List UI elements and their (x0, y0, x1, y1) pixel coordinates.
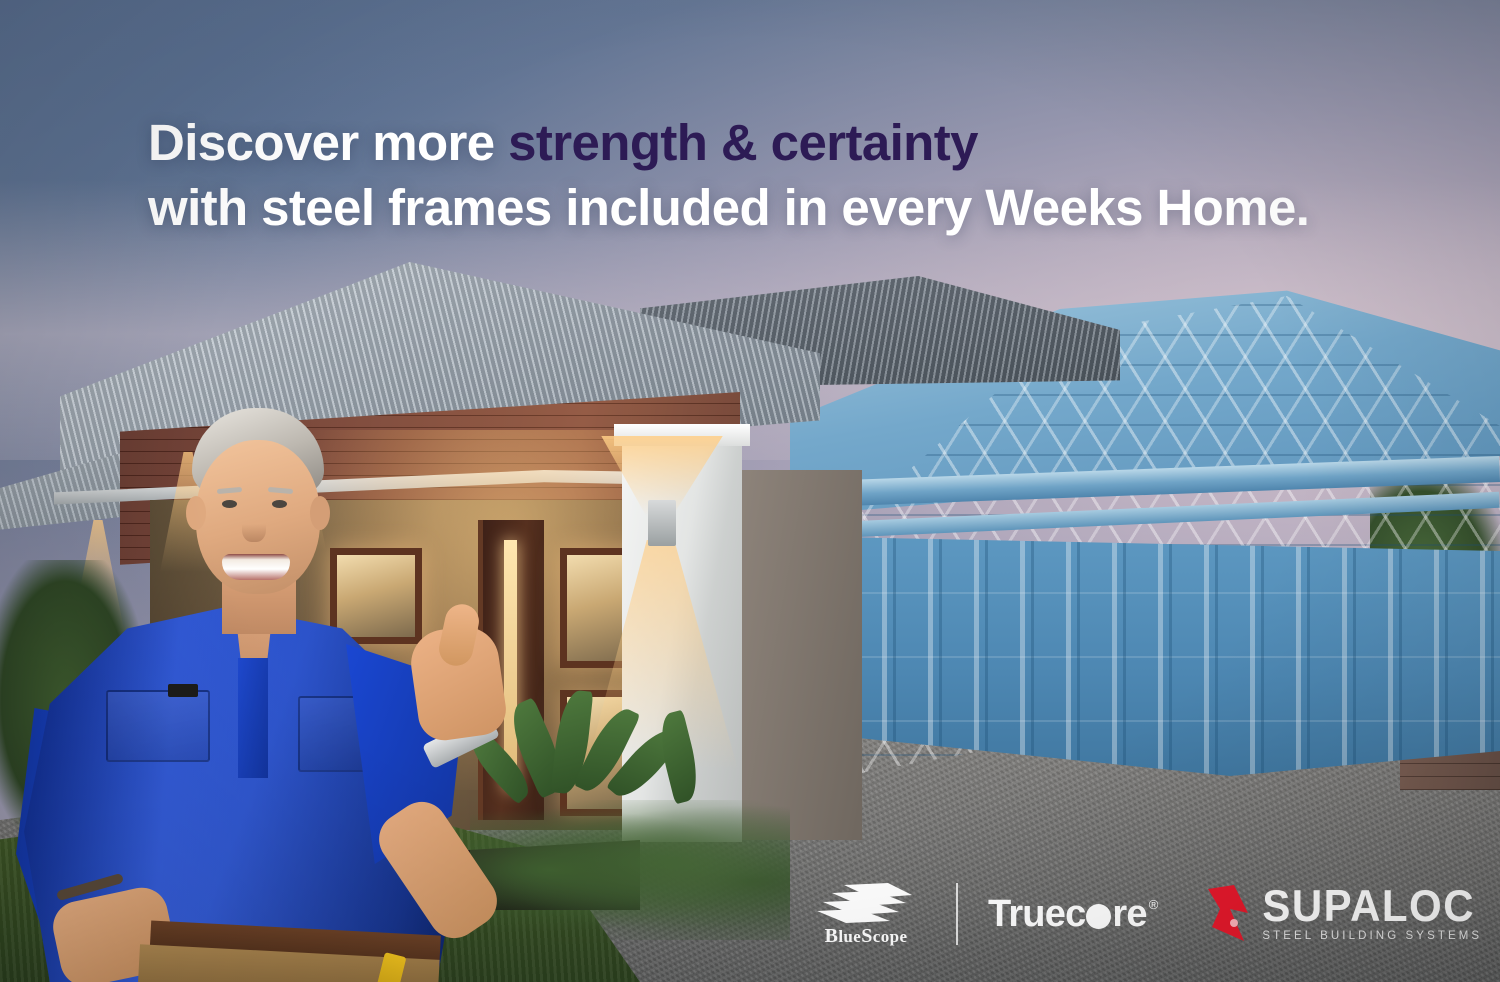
nose (242, 512, 266, 542)
truecore-logo: Truecre ® (988, 895, 1158, 933)
bluescope-logo: BlueScope (806, 881, 926, 948)
wall-light-fixture (648, 500, 676, 546)
truecore-dot-icon (1086, 904, 1111, 929)
truecore-wordmark: Truecre (988, 895, 1147, 933)
bluescope-lue: lue (838, 927, 861, 946)
shirt-pocket-left (106, 690, 210, 762)
headline-line-2: with steel frames included in every Week… (148, 175, 1378, 240)
supaloc-angular-icon (1204, 883, 1268, 945)
partner-logo-bar: BlueScope Truecre ® SUPALOC STEEL BUILDI… (806, 874, 1482, 954)
smile (222, 554, 290, 580)
eye-left (222, 500, 237, 508)
shirt-placket (238, 658, 268, 778)
garden-hedge (470, 800, 790, 940)
headline: Discover more strength & certainty with … (148, 110, 1378, 241)
builder-person (10, 408, 480, 982)
eye-right (272, 500, 287, 508)
supaloc-logo: SUPALOC STEEL BUILDING SYSTEMS (1204, 883, 1482, 945)
bluescope-cope: cope (873, 927, 908, 946)
supaloc-text-block: SUPALOC STEEL BUILDING SYSTEMS (1262, 886, 1482, 941)
truecore-registered-mark: ® (1149, 897, 1159, 912)
supaloc-tagline: STEEL BUILDING SYSTEMS (1262, 930, 1482, 942)
shirt-brand-tag (168, 684, 198, 697)
truecore-true: True (988, 893, 1065, 935)
logo-divider (956, 883, 958, 945)
right-render-wall (742, 470, 862, 840)
bluescope-b: B (825, 925, 839, 947)
headline-line-1: Discover more strength & certainty (148, 110, 1378, 175)
supaloc-wordmark: SUPALOC (1262, 885, 1482, 928)
headline-accent-text: strength & certainty (508, 114, 978, 171)
truecore-re: re (1112, 893, 1146, 935)
truecore-c: c (1065, 893, 1085, 935)
bluescope-s: S (861, 925, 873, 947)
advertising-banner: Discover more strength & certainty with … (0, 0, 1500, 982)
bluescope-wordmark: BlueScope (825, 925, 908, 948)
bluescope-ribbon-icon (814, 881, 918, 925)
ear-left (186, 496, 206, 530)
ear-right (310, 496, 330, 530)
headline-plain-text: Discover more (148, 114, 508, 171)
